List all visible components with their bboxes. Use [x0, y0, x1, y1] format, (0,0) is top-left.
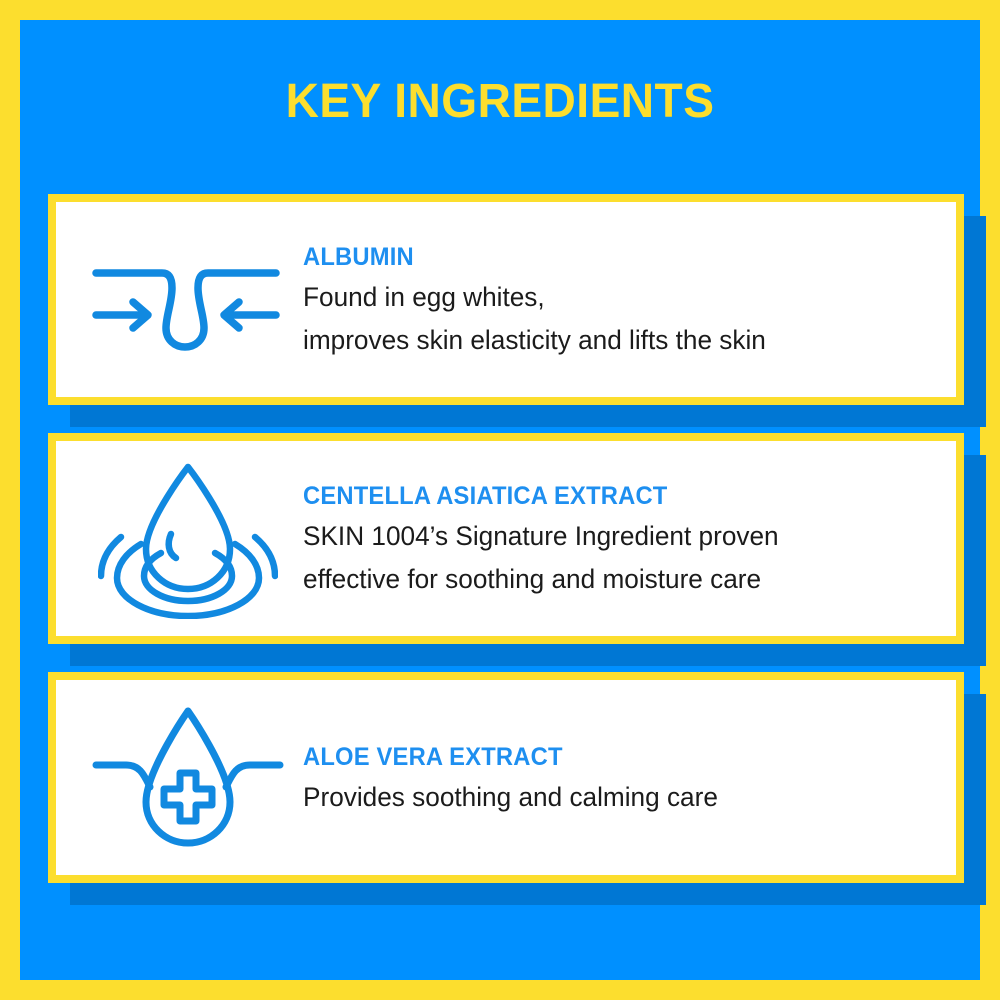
- card-text: ALOE VERA EXTRACT Provides soothing and …: [295, 745, 932, 811]
- card-heading: ALOE VERA EXTRACT: [303, 745, 901, 770]
- card-body-line: Found in egg whites,: [303, 284, 913, 311]
- card-body-line: Provides soothing and calming care: [303, 784, 913, 811]
- card-body: ALOE VERA EXTRACT Provides soothing and …: [56, 680, 956, 875]
- water-droplet-ripple-icon: [80, 459, 295, 618]
- card-heading: CENTELLA ASIATICA EXTRACT: [303, 484, 901, 509]
- card-frame: ALBUMIN Found in egg whites, improves sk…: [48, 194, 964, 405]
- ingredient-card-list: ALBUMIN Found in egg whites, improves sk…: [48, 194, 964, 883]
- card-frame: ALOE VERA EXTRACT Provides soothing and …: [48, 672, 964, 883]
- poster-inner-panel: KEY INGREDIENTS: [20, 20, 980, 980]
- card-heading: ALBUMIN: [303, 245, 901, 270]
- ingredient-card: CENTELLA ASIATICA EXTRACT SKIN 1004’s Si…: [48, 433, 964, 644]
- card-body-line: improves skin elasticity and lifts the s…: [303, 327, 913, 354]
- ingredient-card: ALOE VERA EXTRACT Provides soothing and …: [48, 672, 964, 883]
- card-text: CENTELLA ASIATICA EXTRACT SKIN 1004’s Si…: [295, 484, 932, 593]
- ingredient-card: ALBUMIN Found in egg whites, improves sk…: [48, 194, 964, 405]
- card-body: CENTELLA ASIATICA EXTRACT SKIN 1004’s Si…: [56, 441, 956, 636]
- card-text: ALBUMIN Found in egg whites, improves sk…: [295, 245, 932, 354]
- page-title: KEY INGREDIENTS: [39, 78, 961, 126]
- droplet-medical-cross-icon: [80, 698, 295, 857]
- card-body-line: effective for soothing and moisture care: [303, 566, 913, 593]
- card-frame: CENTELLA ASIATICA EXTRACT SKIN 1004’s Si…: [48, 433, 964, 644]
- poster-root: KEY INGREDIENTS: [0, 0, 1000, 1000]
- card-body: ALBUMIN Found in egg whites, improves sk…: [56, 202, 956, 397]
- pore-compression-icon: [80, 220, 295, 379]
- card-body-line: SKIN 1004’s Signature Ingredient proven: [303, 523, 913, 550]
